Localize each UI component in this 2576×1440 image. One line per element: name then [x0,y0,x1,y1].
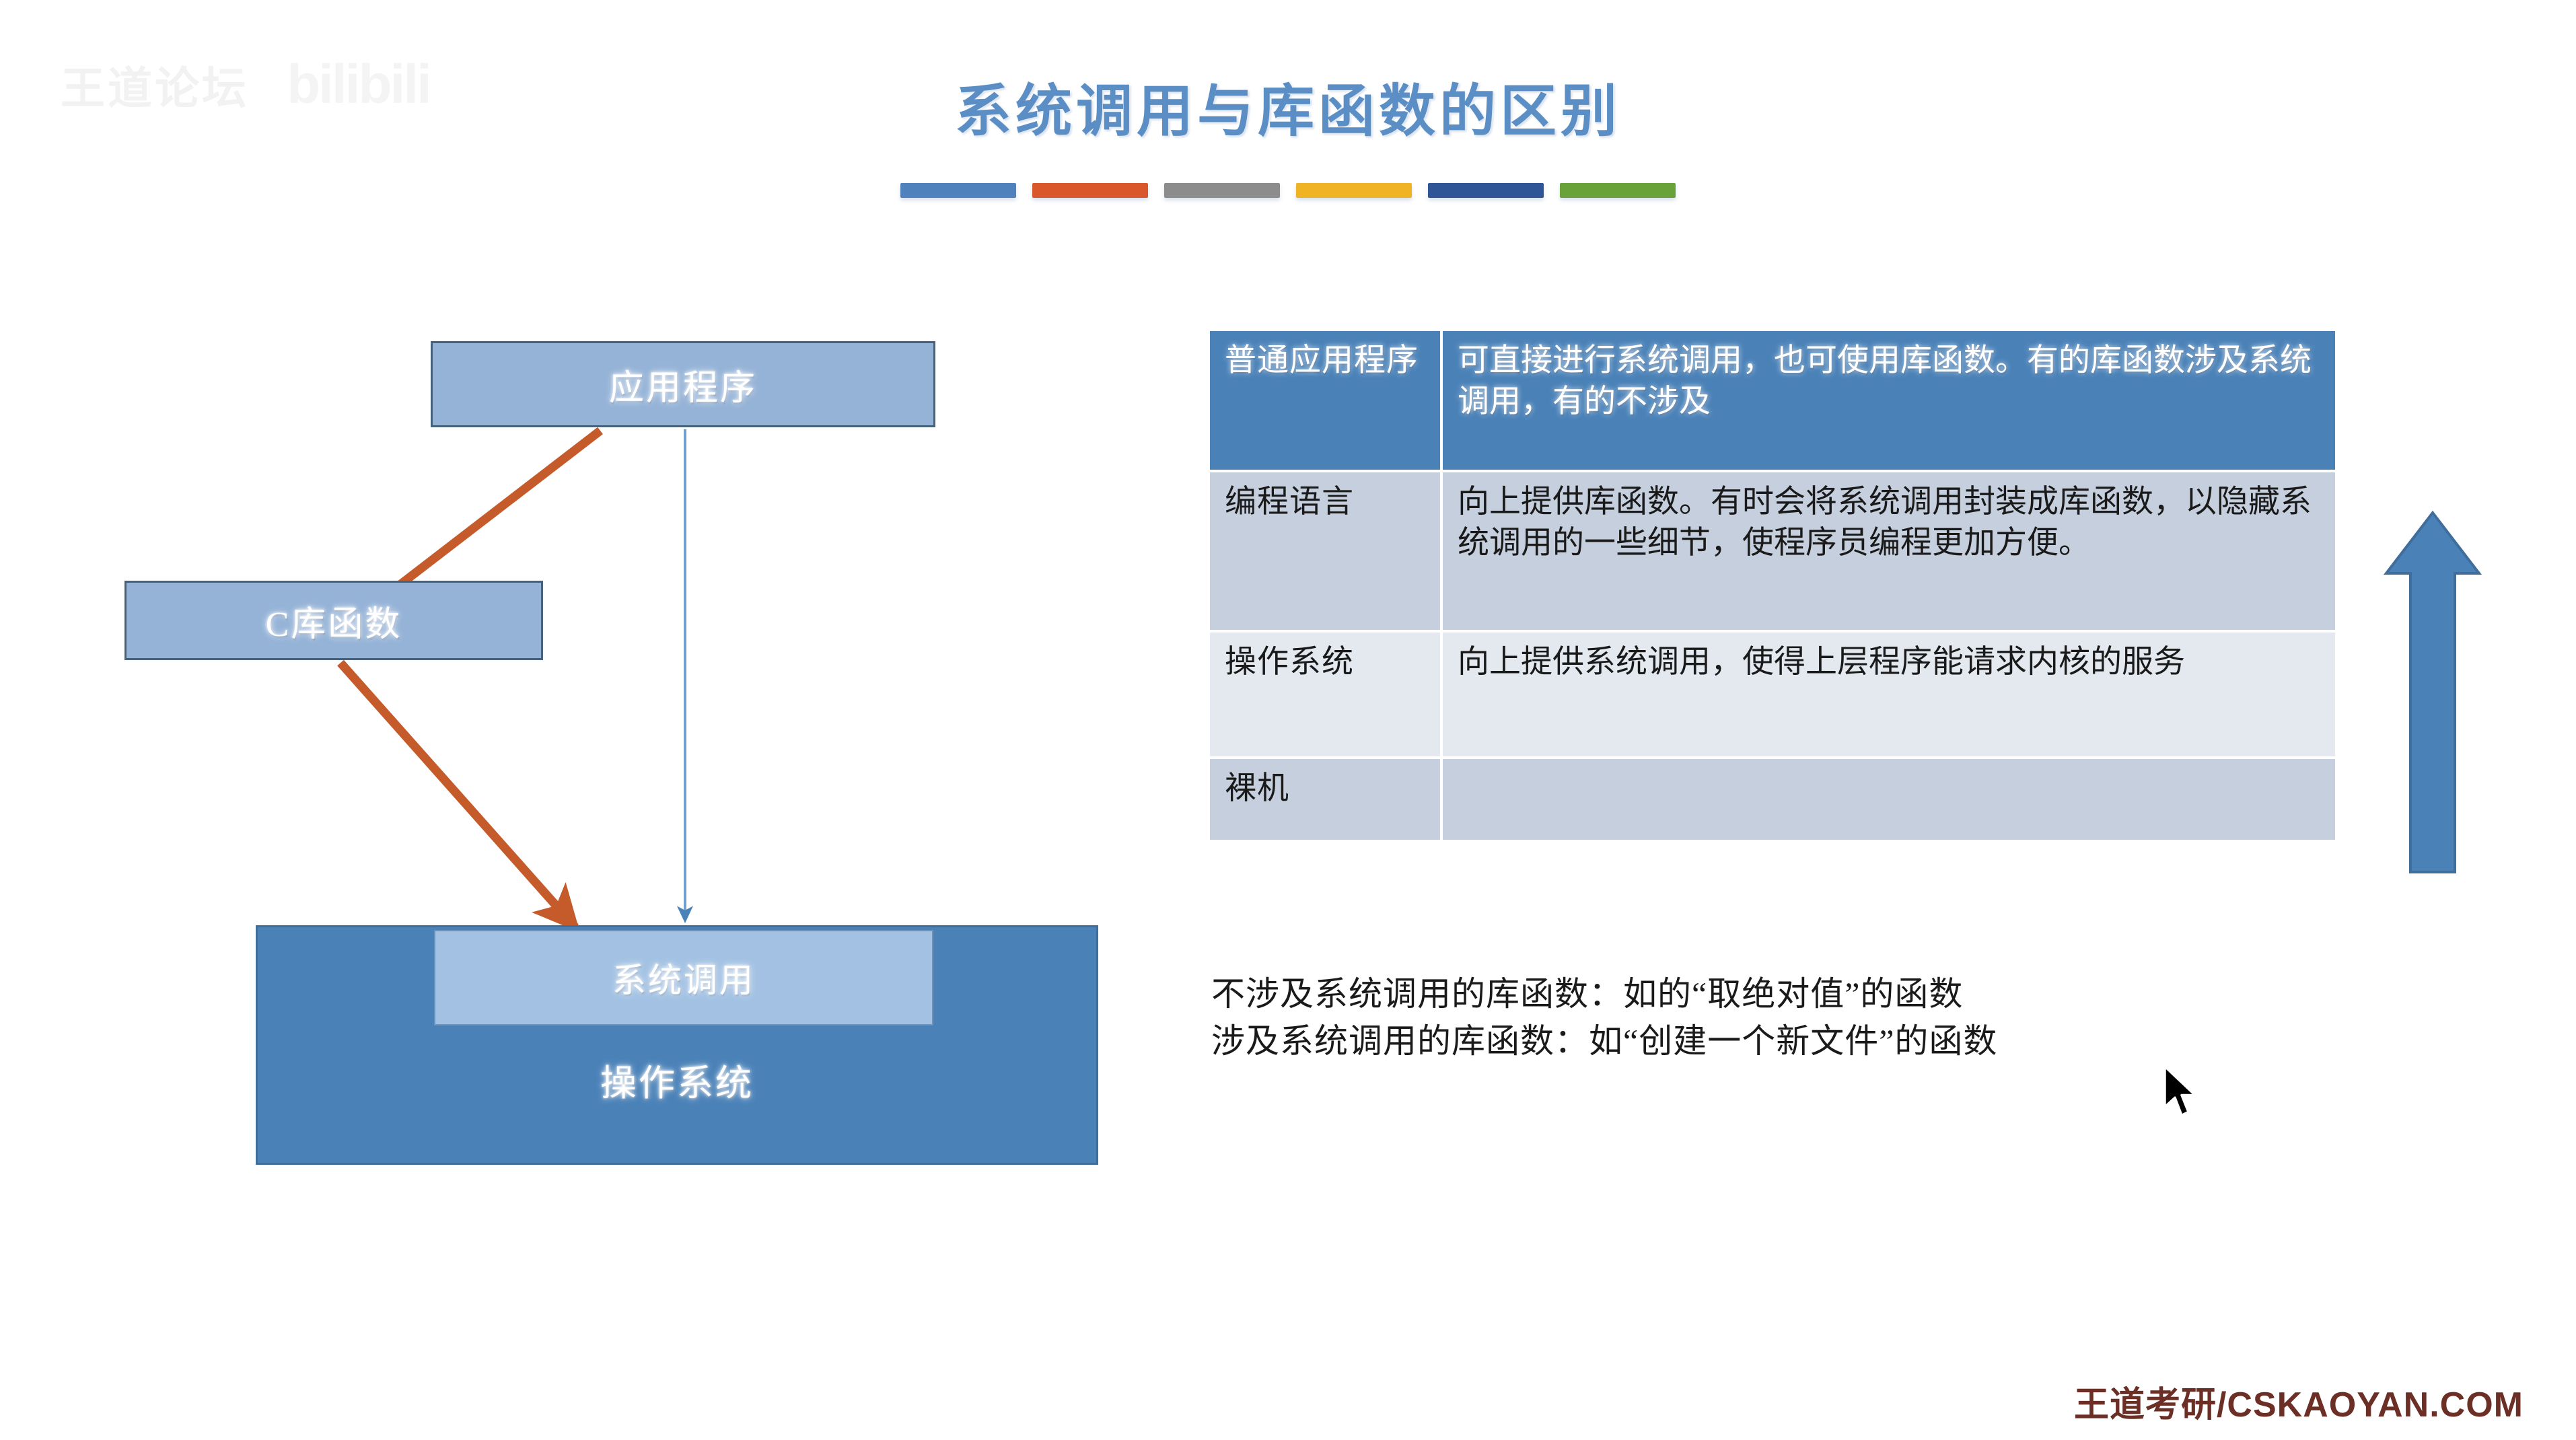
mouse-cursor-icon [2161,1065,2202,1122]
table-cell-label: 普通应用程序 [1210,331,1443,472]
diagram-box-syscall-label: 系统调用 [612,953,755,1002]
table-cell-description [1443,759,2335,840]
abstraction-level-up-arrow-icon [2382,509,2483,876]
table-cell-description: 向上提供系统调用，使得上层程序能请求内核的服务 [1443,633,2335,759]
layer-comparison-table: 普通应用程序 可直接进行系统调用，也可使用库函数。有的库函数涉及系统调用，有的不… [1210,331,2335,840]
accent-bar-navy [1428,183,1544,198]
diagram-box-application: 应用程序 [431,341,935,427]
table-cell-label: 编程语言 [1210,472,1443,633]
accent-bar-green [1560,183,1676,198]
table-cell-label: 裸机 [1210,759,1443,840]
footer-brand: 王道考研/CSKAOYAN.COM [2074,1376,2524,1427]
table-cell-description: 可直接进行系统调用，也可使用库函数。有的库函数涉及系统调用，有的不涉及 [1443,331,2335,472]
arrow-clib-to-syscall [341,663,575,927]
diagram-box-clib-label: C库函数 [266,596,402,646]
accent-bar-yellow [1296,183,1412,198]
table-cell-description: 向上提供库函数。有时会将系统调用封装成库函数，以隐藏系统调用的一些细节，使程序员… [1443,472,2335,633]
table-row: 裸机 [1210,759,2335,840]
table-row: 普通应用程序 可直接进行系统调用，也可使用库函数。有的库函数涉及系统调用，有的不… [1210,331,2335,472]
diagram-box-os-label: 操作系统 [600,1053,754,1106]
explanation-line-1: 不涉及系统调用的库函数：如的“取绝对值”的函数 [1211,970,1997,1017]
diagram-box-c-library: C库函数 [124,581,543,660]
explanation-text: 不涉及系统调用的库函数：如的“取绝对值”的函数 涉及系统调用的库函数：如“创建一… [1211,970,1997,1065]
table-row: 操作系统 向上提供系统调用，使得上层程序能请求内核的服务 [1210,633,2335,759]
diagram-box-app-label: 应用程序 [609,359,757,410]
diagram-box-system-call: 系统调用 [434,930,933,1025]
explanation-line-2: 涉及系统调用的库函数：如“创建一个新文件”的函数 [1211,1017,1997,1065]
table-row: 编程语言 向上提供库函数。有时会将系统调用封装成库函数，以隐藏系统调用的一些细节… [1210,472,2335,633]
table-cell-label: 操作系统 [1210,633,1443,759]
